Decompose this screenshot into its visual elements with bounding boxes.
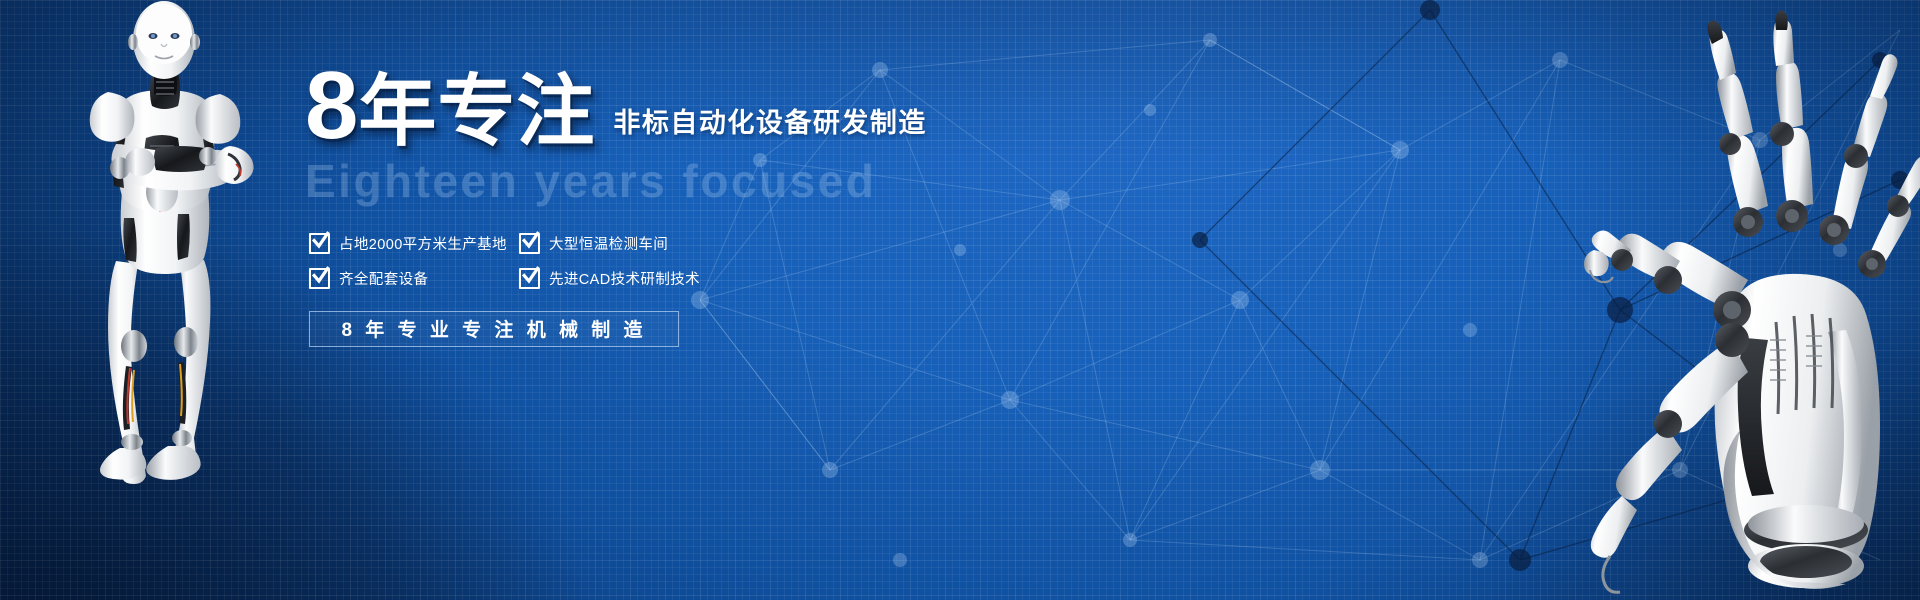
page-title: 8年专注 [305,60,595,152]
headline-text: 年专注 [358,67,595,155]
checkbox-checked-icon [309,233,330,254]
headline-subtitle: 非标自动化设备研发制造 [613,101,927,152]
checkbox-checked-icon [309,268,330,289]
robotic-hand-image [1580,10,1920,600]
badge-label: 8 年 专 业 专 注 机 械 制 造 [341,315,646,342]
feature-item: 占地2000平方米生产基地 [309,233,519,254]
headline-row: 8年专注 非标自动化设备研发制造 [305,66,1065,152]
banner-content: 8年专注 非标自动化设备研发制造 Eighteen years focused … [305,66,1065,347]
checkbox-checked-icon [519,268,540,289]
feature-item: 先进CAD技术研制技术 [519,268,729,289]
feature-item: 大型恒温检测车间 [519,233,729,254]
feature-label: 先进CAD技术研制技术 [549,268,700,289]
promo-banner: 8年专注 非标自动化设备研发制造 Eighteen years focused … [0,0,1920,600]
humanoid-robot-image [60,0,290,486]
feature-label: 齐全配套设备 [339,268,428,289]
status-badge: 8 年 专 业 专 注 机 械 制 造 [309,311,679,347]
feature-label: 大型恒温检测车间 [549,233,668,254]
ghost-tagline: Eighteen years focused [305,156,1065,207]
headline-number: 8 [305,52,356,159]
feature-label: 占地2000平方米生产基地 [339,233,507,254]
checkbox-checked-icon [519,233,540,254]
feature-list: 占地2000平方米生产基地 大型恒温检测车间 齐全配套设备 先进CAD技术研制技… [309,233,729,289]
feature-item: 齐全配套设备 [309,268,519,289]
